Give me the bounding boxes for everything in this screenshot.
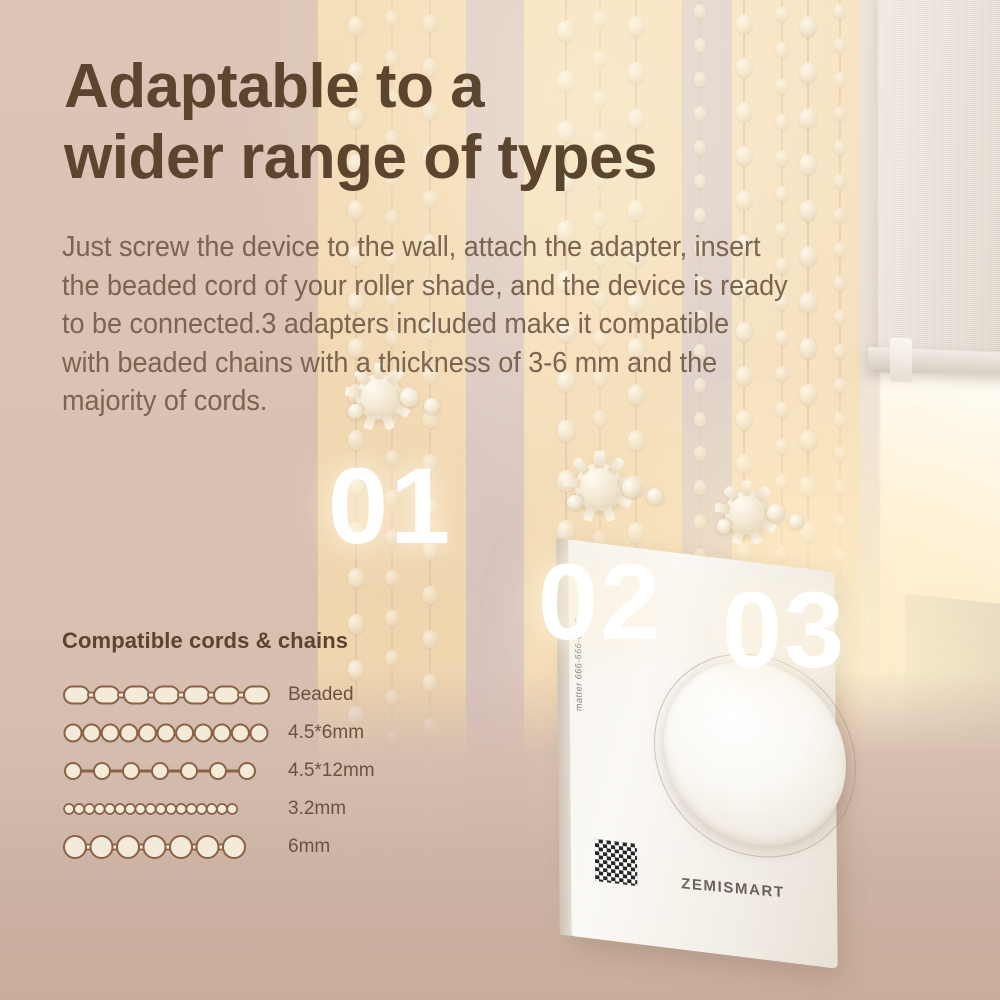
round-bead-chain-icon [62,716,280,750]
legend-row: 4.5*12mm [62,752,422,790]
chain-bead [694,208,706,223]
chain-bead [386,210,399,226]
chain-bead [776,186,789,202]
legend-row-label: 6mm [288,836,330,858]
adapter-cog [725,491,769,535]
qr-code-icon [595,839,637,886]
chain-bead [776,438,789,454]
adapter-bead [767,504,785,522]
chain-bead [800,200,817,221]
legend-row: 4.5*6mm [62,714,422,752]
chain-bead [694,446,706,461]
chain-bead [834,480,846,495]
adapter-bead [789,514,804,529]
chain-bead [348,568,364,588]
chain-bead [776,42,789,58]
chain-bead [800,16,817,37]
description-paragraph: Just screw the device to the wall, attac… [62,228,862,421]
adapter-bead [717,519,731,533]
step-number-01: 01 [328,452,452,560]
chain-bead [800,154,817,175]
chain-bead [628,16,645,37]
adapter-cog-tooth [601,503,616,522]
roller-blind [878,0,1000,371]
chain-bead [834,548,846,563]
paragraph-line-2: the beaded cord of your roller shade, an… [62,267,862,306]
chain-bead [386,610,399,626]
chain-adapter [548,440,674,545]
legend-row-label: 4.5*6mm [288,722,364,744]
chain-bead [557,420,575,442]
chain-bead [348,16,364,36]
chain-bead [834,38,846,53]
chain-bead [593,10,607,27]
brand-logo: ZEMISMART [681,875,785,901]
adapter-cog-tooth [742,480,751,495]
chain-bead [834,446,846,461]
chain-bead [834,208,846,223]
step-number-02: 02 [538,548,662,656]
chain-bead [348,200,364,220]
paragraph-line-1: Just screw the device to the wall, attac… [62,228,862,267]
chain-bead [834,174,846,189]
product-marketing-image: matter 666-666-6666 ZEMISMART Adaptable … [0,0,1000,1000]
spaced-bead-chain-icon [62,754,280,788]
adapter-cog-tooth [563,476,581,488]
headline-line-2: wider range of types [64,123,764,194]
chain-bead [423,14,438,32]
legend-row-label: 3.2mm [288,798,346,820]
legend-row-label: Beaded [288,684,354,706]
large-bead-chain-icon [62,830,280,864]
beaded-oval-chain-icon [62,678,280,712]
legend-row: 3.2mm [62,790,422,828]
adapter-cog-tooth [714,503,730,514]
adapter-cog-tooth [722,485,738,502]
legend-title: Compatible cords & chains [62,628,422,654]
chain-bead [386,570,399,586]
chain-bead [800,108,817,129]
adapter-cog-tooth [748,527,761,544]
chain-bead [776,150,789,166]
adapter-cog-tooth [731,527,744,544]
chain-bead [776,78,789,94]
adapter-cog-tooth [754,485,770,502]
chain-bead [776,114,789,130]
chain-bead [834,72,846,87]
chain-bead [694,4,706,19]
paragraph-line-4: with beaded chains with a thickness of 3… [62,344,862,383]
paragraph-line-3: to be connected.3 adapters included make… [62,305,862,344]
chain-adapter [700,470,814,565]
adapter-cog-tooth [573,457,591,476]
chain-bead [736,14,752,34]
legend-row: Beaded [62,676,422,714]
chain-bead [834,4,846,19]
page-title: Adaptable to a wider range of types [64,52,764,193]
adapter-cog-tooth [583,503,598,522]
chain-bead [557,20,575,42]
adapter-cog-tooth [608,457,626,476]
chain-bead [834,514,846,529]
compatible-cords-legend: Compatible cords & chains Beaded4.5*6mm4… [62,628,422,866]
legend-row-label: 4.5*12mm [288,760,375,782]
chain-bead [694,38,706,53]
chain-bead [834,106,846,121]
chain-bead [423,630,438,648]
headline-line-1: Adaptable to a [64,52,764,123]
adapter-bead [622,478,642,498]
chain-bead [628,200,645,221]
chain-bead [423,586,438,604]
legend-row: 6mm [62,828,422,866]
adapter-bead [567,495,583,511]
step-number-03: 03 [722,576,846,684]
paragraph-line-5: majority of cords. [62,382,862,421]
chain-bead [800,430,817,451]
adapter-cog-tooth [595,452,604,469]
chain-bead [776,6,789,22]
fine-bead-chain-icon [62,792,280,826]
adapter-bead [647,488,664,505]
chain-bead [834,140,846,155]
chain-bead [386,10,399,26]
roller-blind-tab [890,338,912,383]
chain-bead [800,62,817,83]
chain-bead [593,210,607,227]
